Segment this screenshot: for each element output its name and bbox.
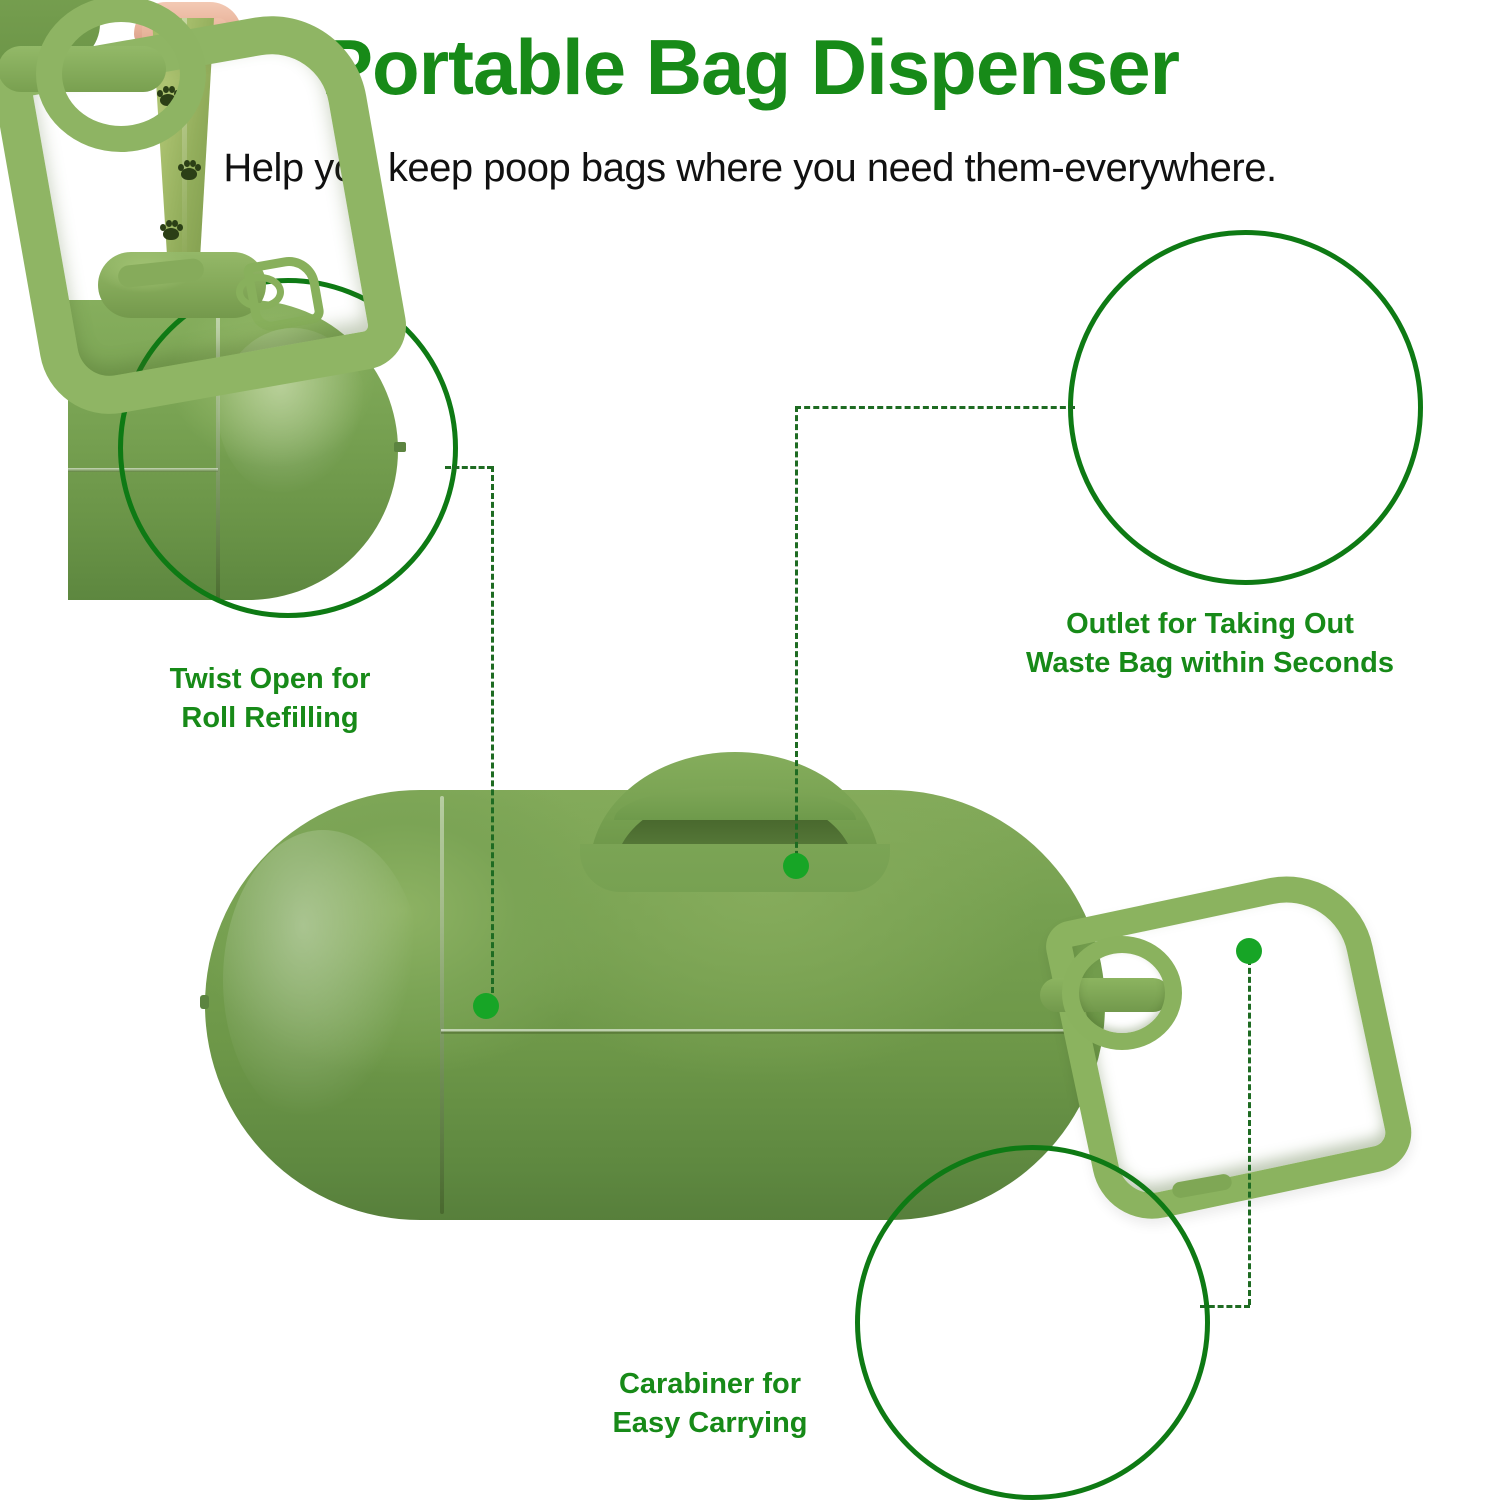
outlet-base-blend (580, 844, 890, 892)
anchor-dot-outlet (783, 853, 809, 879)
infographic-canvas: Portable Bag Dispenser Help you keep poo… (0, 0, 1500, 1500)
dash-carabiner-vertical (1248, 950, 1251, 1305)
capsule-end-nub-icon (200, 995, 209, 1009)
carabiner-closeup (0, 0, 390, 374)
carabiner-attach-loop-icon (1062, 936, 1182, 1050)
body-seam-line (441, 1029, 1105, 1034)
callout-circle-outlet (1068, 230, 1423, 585)
dash-twist-horizontal (445, 466, 493, 469)
dash-outlet-vertical (795, 406, 798, 866)
callout-label-outlet: Outlet for Taking Out Waste Bag within S… (940, 605, 1480, 683)
capsule-highlight (223, 830, 423, 1130)
dash-outlet-horizontal (795, 406, 1075, 409)
anchor-dot-carabiner (1236, 938, 1262, 964)
carabiner-attach-loop-icon (36, 0, 206, 152)
cap-seam-line (440, 796, 444, 1214)
anchor-dot-twist-open (473, 993, 499, 1019)
callout-circle-carabiner (855, 1145, 1210, 1500)
callout-label-twist-open: Twist Open for Roll Refilling (60, 660, 480, 738)
dash-twist-vertical (491, 466, 494, 1011)
bag-outlet-slot (590, 752, 880, 872)
dash-carabiner-horizontal (1200, 1305, 1250, 1308)
callout-label-carabiner: Carabiner for Easy Carrying (520, 1365, 900, 1443)
